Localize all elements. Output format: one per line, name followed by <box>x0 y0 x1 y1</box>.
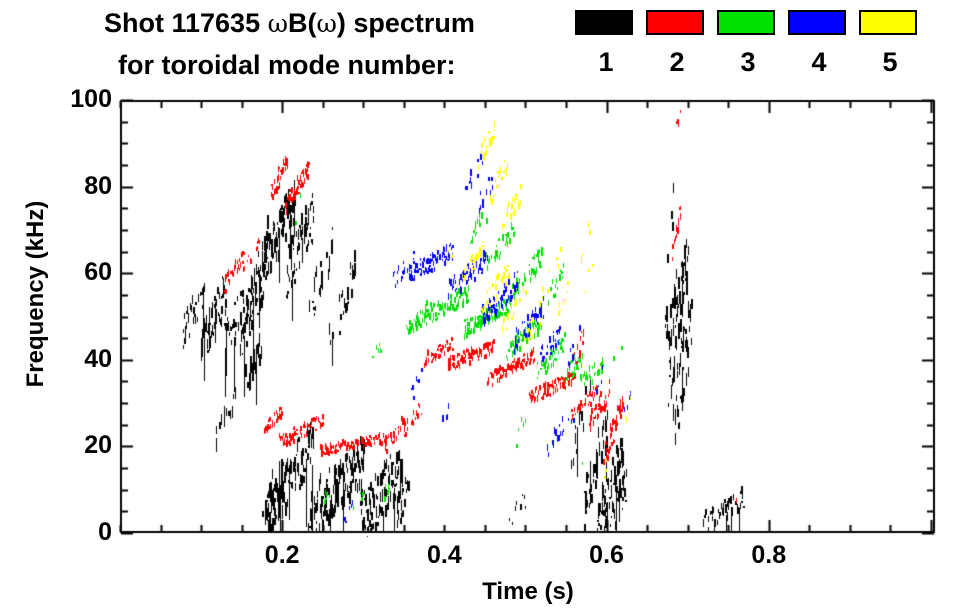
x-axis-label: Time (s) <box>120 578 936 606</box>
y-tick-60: 60 <box>84 260 112 285</box>
x-tick-0.8: 0.8 <box>734 543 804 568</box>
y-tick-20: 20 <box>84 433 112 458</box>
y-tick-100: 100 <box>70 87 112 112</box>
x-tick-0.4: 0.4 <box>409 543 479 568</box>
spectrogram-plot-area[interactable] <box>0 0 963 615</box>
y-axis-label: Frequency (kHz) <box>22 184 50 404</box>
y-axis-tick-labels: 020406080100 <box>0 0 112 615</box>
y-tick-40: 40 <box>84 347 112 372</box>
y-tick-0: 0 <box>98 520 112 545</box>
spectrogram-figure: Shot 117635 ωB(ω) spectrum for toroidal … <box>0 0 963 615</box>
x-tick-0.6: 0.6 <box>572 543 642 568</box>
x-tick-0.2: 0.2 <box>247 543 317 568</box>
y-tick-80: 80 <box>84 174 112 199</box>
